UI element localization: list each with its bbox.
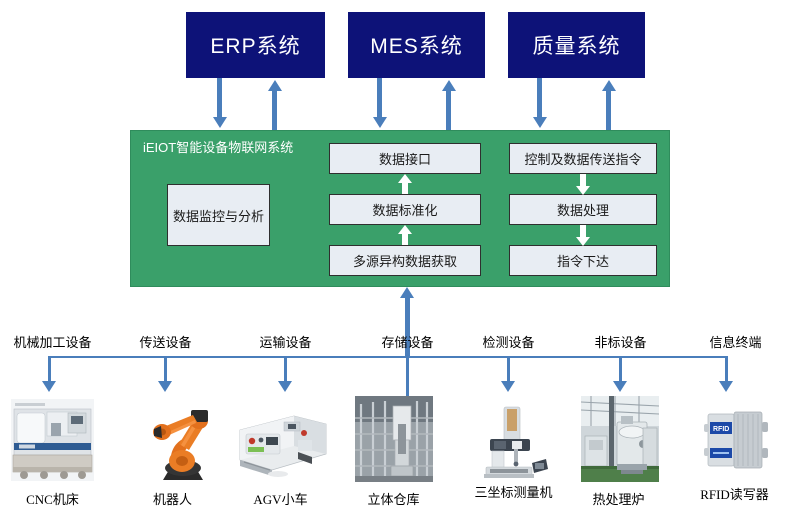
- platform-arrow-up-1-head: [398, 174, 412, 183]
- platform-node-data-standardization-label: 数据标准化: [372, 200, 437, 219]
- equipment-bus-line: [50, 356, 728, 358]
- arrow-drop-5-shaft: [619, 356, 622, 383]
- equipment-category-6: 信息终端: [683, 332, 788, 351]
- arrow-erp-down-head: [213, 117, 227, 128]
- platform-node-command-dispatch-label: 指令下达: [557, 251, 609, 270]
- platform-node-data-processing-label: 数据处理: [557, 200, 609, 219]
- platform-node-monitoring[interactable]: 数据监控与分析: [167, 184, 270, 246]
- platform-node-data-standardization[interactable]: 数据标准化: [329, 194, 481, 225]
- equipment-photo-rfid: RFID: [700, 404, 772, 476]
- arrow-drop-4-head: [501, 381, 515, 392]
- arrow-drop-0-shaft: [48, 356, 51, 383]
- arrow-quality-up-shaft: [606, 90, 611, 130]
- equipment-name-0: CNC机床: [0, 489, 105, 508]
- platform-arrow-down-2-head: [576, 237, 590, 246]
- arrow-mes-up-head: [442, 80, 456, 91]
- equipment-photo-warehouse: [355, 396, 433, 482]
- platform-node-command-dispatch[interactable]: 指令下达: [509, 245, 657, 276]
- enterprise-box-erp-label: ERP系统: [210, 30, 300, 60]
- arrow-drop-0-head: [42, 381, 56, 392]
- equipment-name-6: RFID读写器: [682, 484, 787, 503]
- equipment-name-3: 立体仓库: [341, 489, 446, 508]
- equipment-photo-robot: [135, 398, 213, 482]
- iot-platform-panel: iEIOT智能设备物联网系统 数据监控与分析 数据接口 数据标准化 多源异构数据…: [130, 130, 670, 287]
- arrow-drop-6-head: [719, 381, 733, 392]
- equipment-name-5: 热处理炉: [566, 489, 671, 508]
- platform-arrow-up-2-head: [398, 225, 412, 234]
- arrow-quality-down-shaft: [537, 78, 542, 119]
- arrow-drop-5-head: [613, 381, 627, 392]
- platform-node-data-interface[interactable]: 数据接口: [329, 143, 481, 174]
- equipment-category-1: 传送设备: [113, 332, 218, 351]
- platform-node-control-command[interactable]: 控制及数据传送指令: [509, 143, 657, 174]
- arrow-drop-1-shaft: [164, 356, 167, 383]
- equipment-category-6-label: 信息终端: [709, 335, 761, 350]
- arrow-quality-up-head: [602, 80, 616, 91]
- arrow-mes-up-shaft: [446, 90, 451, 130]
- arrow-erp-up-head: [268, 80, 282, 91]
- equipment-photo-cmm: [478, 403, 550, 481]
- platform-node-monitoring-label: 数据监控与分析: [173, 206, 264, 225]
- equipment-name-4-label: 三坐标测量机: [474, 485, 552, 500]
- equipment-category-0: 机械加工设备: [0, 332, 105, 351]
- diagram-canvas: ERP系统 MES系统 质量系统 iEIOT智能设备物联网系统 数据监控与分析 …: [0, 0, 795, 517]
- equipment-category-0-label: 机械加工设备: [13, 335, 91, 350]
- arrow-drop-4-shaft: [507, 356, 510, 383]
- equipment-category-4-label: 检测设备: [482, 335, 534, 350]
- equipment-name-1-label: 机器人: [153, 492, 192, 507]
- arrow-drop-2-head: [278, 381, 292, 392]
- equipment-category-4: 检测设备: [456, 332, 561, 351]
- equipment-photo-furnace: [581, 396, 659, 482]
- arrow-drop-1-head: [158, 381, 172, 392]
- enterprise-box-quality-label: 质量系统: [533, 30, 621, 60]
- equipment-category-5-label: 非标设备: [594, 335, 646, 350]
- equipment-name-0-label: CNC机床: [26, 492, 79, 507]
- equipment-category-1-label: 传送设备: [139, 335, 191, 350]
- arrow-quality-down-head: [533, 117, 547, 128]
- platform-node-multisource-acquisition[interactable]: 多源异构数据获取: [329, 245, 481, 276]
- platform-title: iEIOT智能设备物联网系统: [143, 137, 293, 156]
- enterprise-box-quality[interactable]: 质量系统: [508, 12, 645, 78]
- equipment-photo-cnc: [11, 399, 94, 481]
- platform-node-data-interface-label: 数据接口: [379, 149, 431, 168]
- platform-arrow-down-1-head: [576, 186, 590, 195]
- svg-text:RFID: RFID: [713, 426, 729, 433]
- arrow-erp-up-shaft: [272, 90, 277, 130]
- equipment-name-6-label: RFID读写器: [700, 487, 769, 502]
- arrow-erp-down-shaft: [217, 78, 222, 119]
- equipment-name-2-label: AGV小车: [253, 492, 307, 507]
- equipment-category-3: 存储设备: [355, 332, 460, 351]
- arrow-drop-6-shaft: [725, 356, 728, 383]
- equipment-category-2-label: 运输设备: [259, 335, 311, 350]
- equipment-name-1: 机器人: [120, 489, 225, 508]
- equipment-category-3-label: 存储设备: [381, 335, 433, 350]
- platform-node-multisource-acquisition-label: 多源异构数据获取: [353, 251, 457, 270]
- platform-node-data-processing[interactable]: 数据处理: [509, 194, 657, 225]
- arrow-drop-2-shaft: [284, 356, 287, 383]
- equipment-name-3-label: 立体仓库: [367, 492, 419, 507]
- equipment-name-2: AGV小车: [228, 489, 333, 508]
- platform-node-control-command-label: 控制及数据传送指令: [524, 149, 641, 168]
- arrow-bus-to-platform-head: [400, 287, 414, 298]
- equipment-name-5-label: 热处理炉: [592, 492, 644, 507]
- enterprise-box-erp[interactable]: ERP系统: [186, 12, 325, 78]
- equipment-category-5: 非标设备: [568, 332, 673, 351]
- enterprise-box-mes[interactable]: MES系统: [348, 12, 485, 78]
- enterprise-box-mes-label: MES系统: [370, 30, 463, 60]
- arrow-mes-down-shaft: [377, 78, 382, 119]
- arrow-mes-down-head: [373, 117, 387, 128]
- equipment-photo-agv: [232, 400, 330, 480]
- equipment-name-4: 三坐标测量机: [461, 482, 566, 501]
- equipment-category-2: 运输设备: [233, 332, 338, 351]
